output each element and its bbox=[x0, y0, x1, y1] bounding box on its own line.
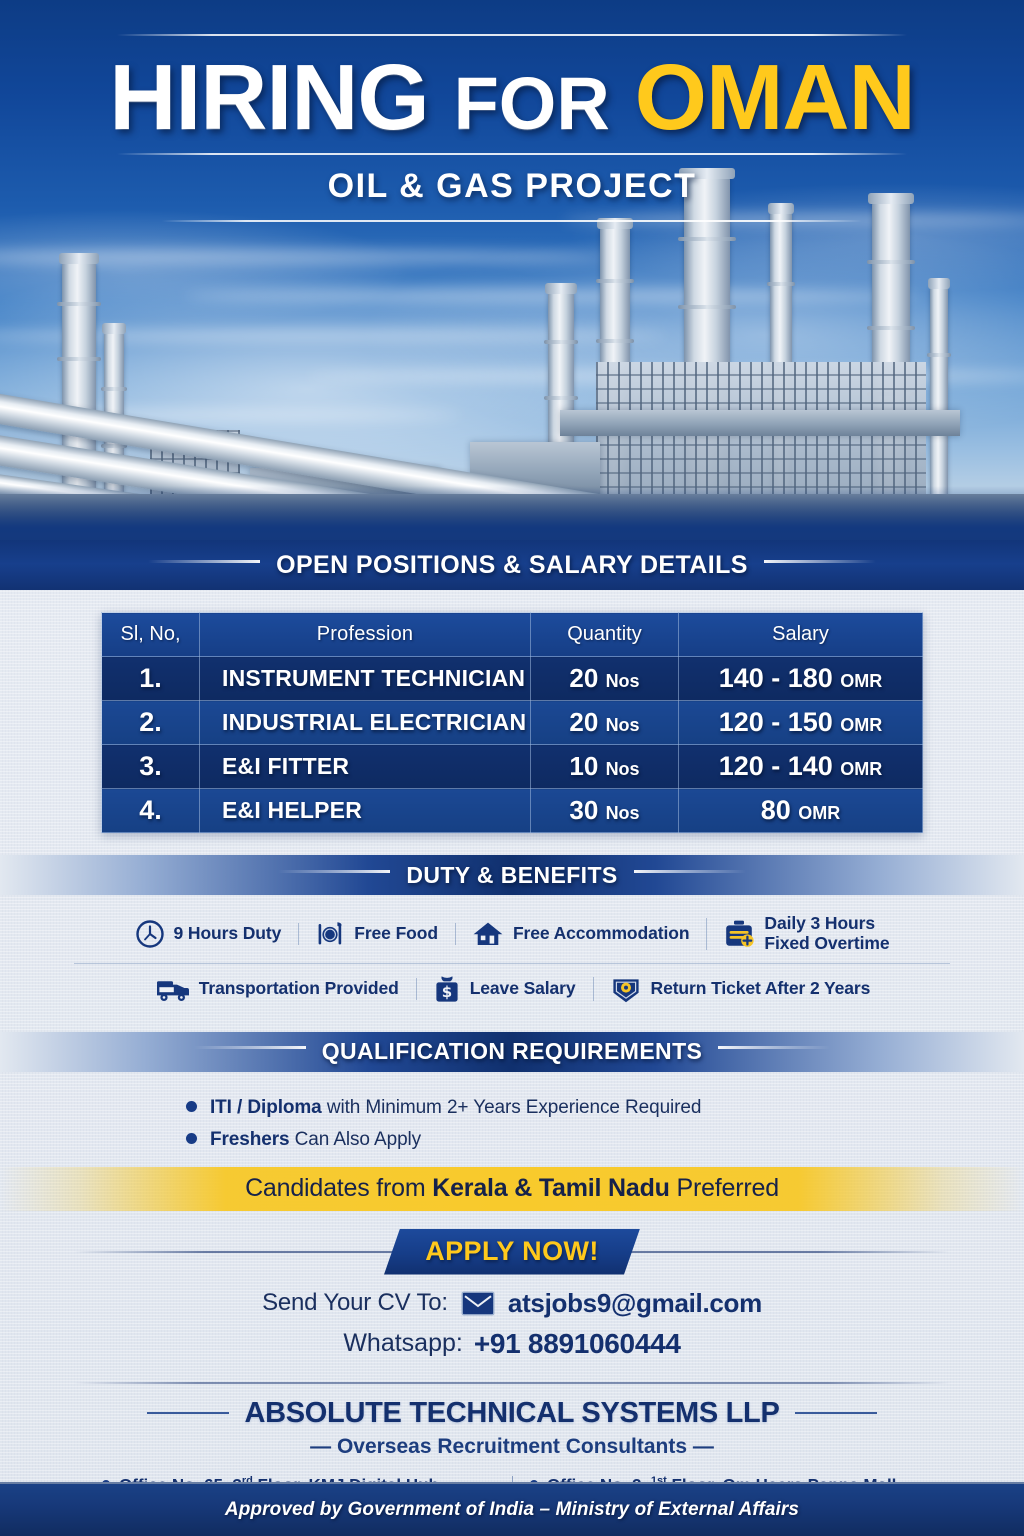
positions-section-header: OPEN POSITIONS & SALARY DETAILS bbox=[0, 540, 1024, 590]
qty-value: 20 bbox=[569, 707, 598, 737]
salary-currency: OMR bbox=[840, 671, 882, 691]
preference-states: Kerala & Tamil Nadu bbox=[432, 1174, 669, 1202]
salary-currency: OMR bbox=[798, 803, 840, 823]
whatsapp-line: Whatsapp: +91 8891060444 bbox=[0, 1328, 1024, 1360]
salary-value: 120 - 140 bbox=[719, 751, 833, 781]
company-name-row: ABSOLUTE TECHNICAL SYSTEMS LLP bbox=[0, 1397, 1024, 1430]
qualification-bullet: ITI / Diploma with Minimum 2+ Years Expe… bbox=[0, 1092, 1024, 1124]
bus-icon bbox=[154, 975, 190, 1003]
benefit-item-transportation: Transportation Provided bbox=[137, 975, 416, 1003]
benefits-heading: DUTY & BENEFITS bbox=[390, 862, 633, 889]
cell-salary: 120 - 150 OMR bbox=[679, 701, 923, 745]
preference-highlight-band: Candidates from Kerala & Tamil Nadu Pref… bbox=[0, 1167, 1024, 1211]
qualification-text: Freshers Can Also Apply bbox=[210, 1129, 421, 1151]
company-separator bbox=[74, 1382, 950, 1384]
qty-value: 10 bbox=[569, 751, 598, 781]
qualification-text: ITI / Diploma with Minimum 2+ Years Expe… bbox=[210, 1097, 701, 1119]
apply-band: APPLY NOW! bbox=[0, 1229, 1024, 1275]
company-name: ABSOLUTE TECHNICAL SYSTEMS LLP bbox=[244, 1397, 779, 1430]
header-dash-left bbox=[194, 1046, 306, 1049]
approval-text: Approved by Government of India – Minist… bbox=[225, 1499, 799, 1521]
benefit-label: Daily 3 Hours Fixed Overtime bbox=[764, 914, 889, 954]
cell-profession: INDUSTRIAL ELECTRICIAN bbox=[200, 701, 531, 745]
cell-quantity: 30 Nos bbox=[531, 789, 679, 833]
cell-sl: 3. bbox=[102, 745, 200, 789]
table-body: 1. INSTRUMENT TECHNICIAN 20 Nos 140 - 18… bbox=[102, 657, 923, 833]
qualification-section-header: QUALIFICATION REQUIREMENTS bbox=[0, 1032, 1024, 1072]
headline-rule-top bbox=[117, 34, 907, 36]
table-row: 1. INSTRUMENT TECHNICIAN 20 Nos 140 - 18… bbox=[102, 657, 923, 701]
qty-unit: Nos bbox=[606, 671, 640, 691]
benefit-item-overtime: Daily 3 Hours Fixed Overtime bbox=[706, 914, 906, 954]
table-row: 2. INDUSTRIAL ELECTRICIAN 20 Nos 120 - 1… bbox=[102, 701, 923, 745]
qualification-heading: QUALIFICATION REQUIREMENTS bbox=[306, 1038, 719, 1065]
cell-profession: INSTRUMENT TECHNICIAN bbox=[200, 657, 531, 701]
shield-badge-icon bbox=[610, 973, 642, 1005]
bullet-dot-icon bbox=[186, 1101, 197, 1112]
cv-contact-line: Send Your CV To: atsjobs9@gmail.com bbox=[0, 1288, 1024, 1319]
cell-salary: 120 - 140 OMR bbox=[679, 745, 923, 789]
header-dash-right bbox=[718, 1046, 830, 1049]
cell-salary: 80 OMR bbox=[679, 789, 923, 833]
cell-salary: 140 - 180 OMR bbox=[679, 657, 923, 701]
apply-now-button[interactable]: APPLY NOW! bbox=[384, 1229, 640, 1275]
header-dash-left bbox=[278, 870, 390, 873]
qty-unit: Nos bbox=[606, 759, 640, 779]
qty-unit: Nos bbox=[606, 715, 640, 735]
benefits-row-1: 9 Hours Duty Free Food Free Acco bbox=[74, 905, 950, 964]
positions-table-wrap: Sl, No, Profession Quantity Salary 1. IN… bbox=[0, 590, 1024, 833]
headline-rule-mid bbox=[117, 153, 907, 155]
positions-heading: OPEN POSITIONS & SALARY DETAILS bbox=[260, 551, 764, 580]
clock-icon bbox=[135, 919, 165, 949]
salary-value: 140 - 180 bbox=[719, 663, 833, 693]
benefit-item-return-ticket: Return Ticket After 2 Years bbox=[593, 973, 888, 1005]
hero-bottom-fade bbox=[0, 486, 1024, 540]
email-link[interactable]: atsjobs9@gmail.com bbox=[508, 1288, 762, 1319]
title-hiring: HIRING bbox=[109, 45, 429, 149]
whatsapp-number[interactable]: +91 8891060444 bbox=[474, 1328, 681, 1360]
page-title: HIRING FOR OMAN bbox=[0, 50, 1024, 145]
benefit-item-leave-salary: $ Leave Salary bbox=[416, 974, 593, 1004]
svg-text:$: $ bbox=[441, 983, 451, 1001]
cell-quantity: 20 Nos bbox=[531, 657, 679, 701]
cell-profession: E&I HELPER bbox=[200, 789, 531, 833]
benefit-item-accommodation: Free Accommodation bbox=[455, 919, 706, 949]
qualification-bold: ITI / Diploma bbox=[210, 1097, 322, 1118]
toolbox-plus-icon bbox=[723, 918, 755, 950]
preference-pre: Candidates from bbox=[245, 1174, 432, 1202]
positions-table: Sl, No, Profession Quantity Salary 1. IN… bbox=[101, 612, 923, 833]
benefit-label: Free Accommodation bbox=[513, 924, 689, 944]
refinery-tower bbox=[930, 287, 948, 502]
qualification-bullet: Freshers Can Also Apply bbox=[0, 1124, 1024, 1156]
table-row: 4. E&I HELPER 30 Nos 80 OMR bbox=[102, 789, 923, 833]
recruitment-poster: HIRING FOR OMAN OIL & GAS PROJECT OPEN P… bbox=[0, 0, 1024, 1536]
header-dash-left bbox=[148, 560, 260, 563]
headline-block: HIRING FOR OMAN OIL & GAS PROJECT bbox=[0, 34, 1024, 222]
refinery-deck bbox=[560, 410, 960, 436]
benefit-item-duty-hours: 9 Hours Duty bbox=[118, 919, 299, 949]
qty-unit: Nos bbox=[606, 803, 640, 823]
qualification-bold: Freshers bbox=[210, 1129, 289, 1150]
salary-value: 80 bbox=[761, 795, 791, 825]
qualification-rest: with Minimum 2+ Years Experience Require… bbox=[322, 1097, 702, 1118]
hero-banner: HIRING FOR OMAN OIL & GAS PROJECT bbox=[0, 0, 1024, 540]
qualification-rest: Can Also Apply bbox=[289, 1129, 421, 1150]
benefits-row-2: Transportation Provided $ Leave Salary R… bbox=[74, 964, 950, 1014]
col-header-profession: Profession bbox=[200, 613, 531, 657]
cell-profession: E&I FITTER bbox=[200, 745, 531, 789]
preference-text: Candidates from Kerala & Tamil Nadu Pref… bbox=[245, 1174, 779, 1203]
benefit-label: Leave Salary bbox=[470, 979, 576, 999]
money-bag-icon: $ bbox=[433, 974, 461, 1004]
header-dash-right bbox=[634, 870, 746, 873]
title-for: FOR bbox=[454, 62, 610, 145]
benefit-item-free-food: Free Food bbox=[298, 919, 455, 949]
company-dash-right bbox=[795, 1412, 877, 1414]
house-icon bbox=[472, 919, 504, 949]
salary-currency: OMR bbox=[840, 759, 882, 779]
envelope-icon bbox=[461, 1291, 495, 1316]
cell-quantity: 20 Nos bbox=[531, 701, 679, 745]
salary-currency: OMR bbox=[840, 715, 882, 735]
table-row: 3. E&I FITTER 10 Nos 120 - 140 OMR bbox=[102, 745, 923, 789]
cell-sl: 4. bbox=[102, 789, 200, 833]
approval-footer: Approved by Government of India – Minist… bbox=[0, 1482, 1024, 1536]
col-header-quantity: Quantity bbox=[531, 613, 679, 657]
table-head: Sl, No, Profession Quantity Salary bbox=[102, 613, 923, 657]
header-dash-right bbox=[764, 560, 876, 563]
company-dash-left bbox=[147, 1412, 229, 1414]
company-subtitle: — Overseas Recruitment Consultants — bbox=[0, 1435, 1024, 1459]
qty-value: 20 bbox=[569, 663, 598, 693]
headline-rule-bottom bbox=[162, 220, 862, 222]
bullet-dot-icon bbox=[186, 1133, 197, 1144]
whatsapp-label: Whatsapp: bbox=[343, 1329, 463, 1358]
cell-quantity: 10 Nos bbox=[531, 745, 679, 789]
page-subtitle: OIL & GAS PROJECT bbox=[0, 167, 1024, 206]
qualification-list: ITI / Diploma with Minimum 2+ Years Expe… bbox=[0, 1072, 1024, 1213]
salary-value: 120 - 150 bbox=[719, 707, 833, 737]
apply-now-label: APPLY NOW! bbox=[425, 1236, 599, 1267]
benefits-list: 9 Hours Duty Free Food Free Acco bbox=[0, 895, 1024, 1018]
qty-value: 30 bbox=[569, 795, 598, 825]
col-header-salary: Salary bbox=[679, 613, 923, 657]
cv-label: Send Your CV To: bbox=[262, 1289, 448, 1317]
benefit-label: 9 Hours Duty bbox=[174, 924, 282, 944]
preference-post: Preferred bbox=[670, 1174, 779, 1202]
benefit-label: Return Ticket After 2 Years bbox=[651, 979, 871, 999]
title-oman: OMAN bbox=[635, 45, 915, 149]
benefits-section-header: DUTY & BENEFITS bbox=[0, 855, 1024, 895]
plate-cutlery-icon bbox=[315, 919, 345, 949]
benefit-label: Free Food bbox=[354, 924, 438, 944]
table-header-row: Sl, No, Profession Quantity Salary bbox=[102, 613, 923, 657]
cell-sl: 1. bbox=[102, 657, 200, 701]
col-header-sl: Sl, No, bbox=[102, 613, 200, 657]
cell-sl: 2. bbox=[102, 701, 200, 745]
benefit-label: Transportation Provided bbox=[199, 979, 399, 999]
